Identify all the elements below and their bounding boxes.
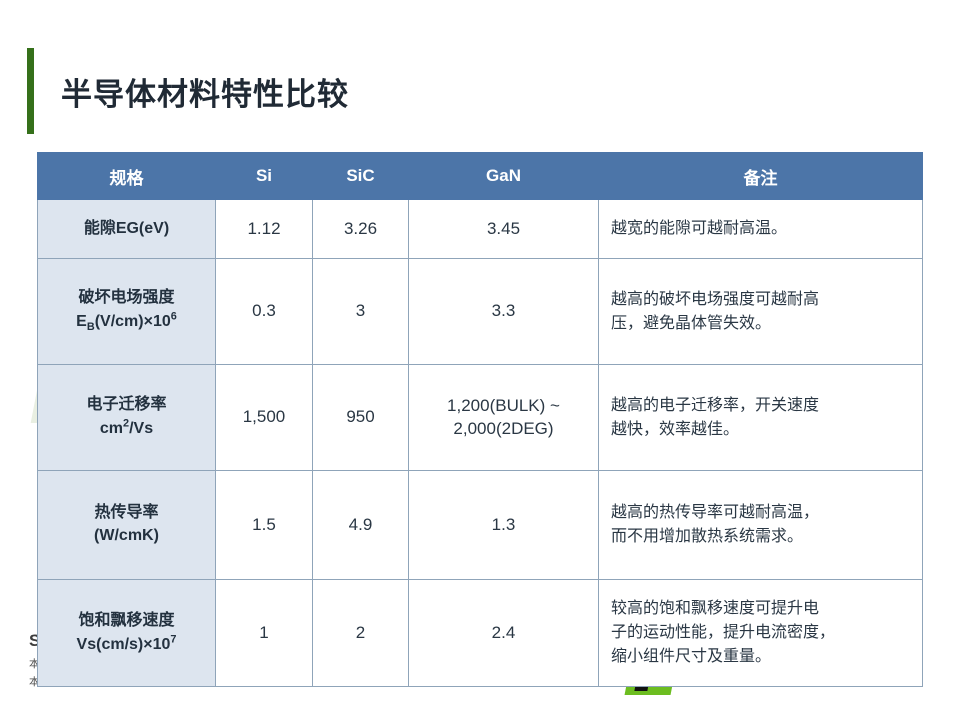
page-title: 半导体材料特性比较 (61, 69, 349, 114)
value-cell-sic: 3.26 (313, 200, 409, 259)
value-cell-sic: 3 (313, 259, 409, 365)
note-line2: 越快，效率越佳。 (611, 421, 739, 438)
value-cell-sic: 950 (313, 365, 409, 471)
value-gan-line1: 3.45 (487, 219, 520, 238)
value-cell-gan: 3.3 (409, 259, 599, 365)
value-cell-gan: 2.4 (409, 580, 599, 687)
spec-label-line2: cm2/Vs (100, 420, 153, 437)
value-gan-line1: 2.4 (492, 623, 516, 642)
value-gan-line2: 2,000(2DEG) (453, 419, 553, 438)
note-cell: 越高的热传导率可越耐高温， 而不用增加散热系统需求。 (599, 471, 923, 580)
spec-label-line1: 饱和飘移速度 (78, 612, 174, 629)
value-cell-gan: 1,200(BULK) ~ 2,000(2DEG) (409, 365, 599, 471)
value-cell-sic: 4.9 (313, 471, 409, 580)
note-line1: 较高的饱和飘移速度可提升电 (611, 600, 819, 617)
spec-label-line2: EB(V/cm)×106 (76, 313, 177, 330)
value-cell-si: 1 (216, 580, 313, 687)
note-line2: 压，避免晶体管失效。 (611, 315, 771, 332)
spec-table-wrapper: 规格 Si SiC GaN 备注 能隙EG(eV) 1.12 3.26 3.45… (37, 152, 922, 687)
spec-label-line1: 热传导率 (94, 504, 158, 521)
value-cell-sic: 2 (313, 580, 409, 687)
note-cell: 越高的破坏电场强度可越耐高 压，避免晶体管失效。 (599, 259, 923, 365)
spec-label-cell: 热传导率 (W/cmK) (38, 471, 216, 580)
spec-label-cell: 电子迁移率 cm2/Vs (38, 365, 216, 471)
column-header-si: Si (216, 153, 313, 200)
table-row: 饱和飘移速度 Vs(cm/s)×107 1 2 2.4 较高的饱和飘移速度可提升… (38, 580, 923, 687)
column-header-gan: GaN (409, 153, 599, 200)
column-header-spec: 规格 (38, 153, 216, 200)
note-line1: 越高的破坏电场强度可越耐高 (611, 291, 819, 308)
value-cell-si: 1.5 (216, 471, 313, 580)
title-accent-bar (27, 48, 34, 134)
value-cell-si: 0.3 (216, 259, 313, 365)
spec-label-line2: Vs(cm/s)×107 (77, 636, 177, 653)
spec-label-line2: (W/cmK) (94, 527, 159, 544)
note-line1: 越高的电子迁移率，开关速度 (611, 397, 819, 414)
spec-label-line1: 能隙EG(eV) (84, 220, 169, 237)
note-line1: 越宽的能隙可越耐高温。 (611, 220, 787, 237)
table-row: 能隙EG(eV) 1.12 3.26 3.45 越宽的能隙可越耐高温。 (38, 200, 923, 259)
note-cell: 较高的饱和飘移速度可提升电 子的运动性能，提升电流密度， 缩小组件尺寸及重量。 (599, 580, 923, 687)
spec-label-cell: 饱和飘移速度 Vs(cm/s)×107 (38, 580, 216, 687)
slide-title-block: 半导体材料特性比较 (27, 48, 349, 134)
spec-label-line1: 破坏电场强度 (78, 289, 174, 306)
table-header-row: 规格 Si SiC GaN 备注 (38, 153, 923, 200)
note-line2: 子的运动性能，提升电流密度， (611, 624, 835, 641)
table-row: 破坏电场强度 EB(V/cm)×106 0.3 3 3.3 越高的破坏电场强度可… (38, 259, 923, 365)
semiconductor-spec-table: 规格 Si SiC GaN 备注 能隙EG(eV) 1.12 3.26 3.45… (37, 152, 923, 687)
note-line3: 缩小组件尺寸及重量。 (611, 648, 771, 665)
note-cell: 越宽的能隙可越耐高温。 (599, 200, 923, 259)
note-line1: 越高的热传导率可越耐高温， (611, 504, 819, 521)
note-line2: 而不用增加散热系统需求。 (611, 528, 803, 545)
table-row: 电子迁移率 cm2/Vs 1,500 950 1,200(BULK) ~ 2,0… (38, 365, 923, 471)
spec-label-line1: 电子迁移率 (86, 396, 166, 413)
value-gan-line1: 1,200(BULK) ~ (447, 396, 560, 415)
table-row: 热传导率 (W/cmK) 1.5 4.9 1.3 越高的热传导率可越耐高温， 而… (38, 471, 923, 580)
value-cell-gan: 3.45 (409, 200, 599, 259)
value-cell-gan: 1.3 (409, 471, 599, 580)
column-header-sic: SiC (313, 153, 409, 200)
value-gan-line1: 1.3 (492, 515, 516, 534)
value-cell-si: 1.12 (216, 200, 313, 259)
value-gan-line1: 3.3 (492, 301, 516, 320)
column-header-note: 备注 (599, 153, 923, 200)
value-cell-si: 1,500 (216, 365, 313, 471)
spec-label-cell: 能隙EG(eV) (38, 200, 216, 259)
spec-label-cell: 破坏电场强度 EB(V/cm)×106 (38, 259, 216, 365)
note-cell: 越高的电子迁移率，开关速度 越快，效率越佳。 (599, 365, 923, 471)
